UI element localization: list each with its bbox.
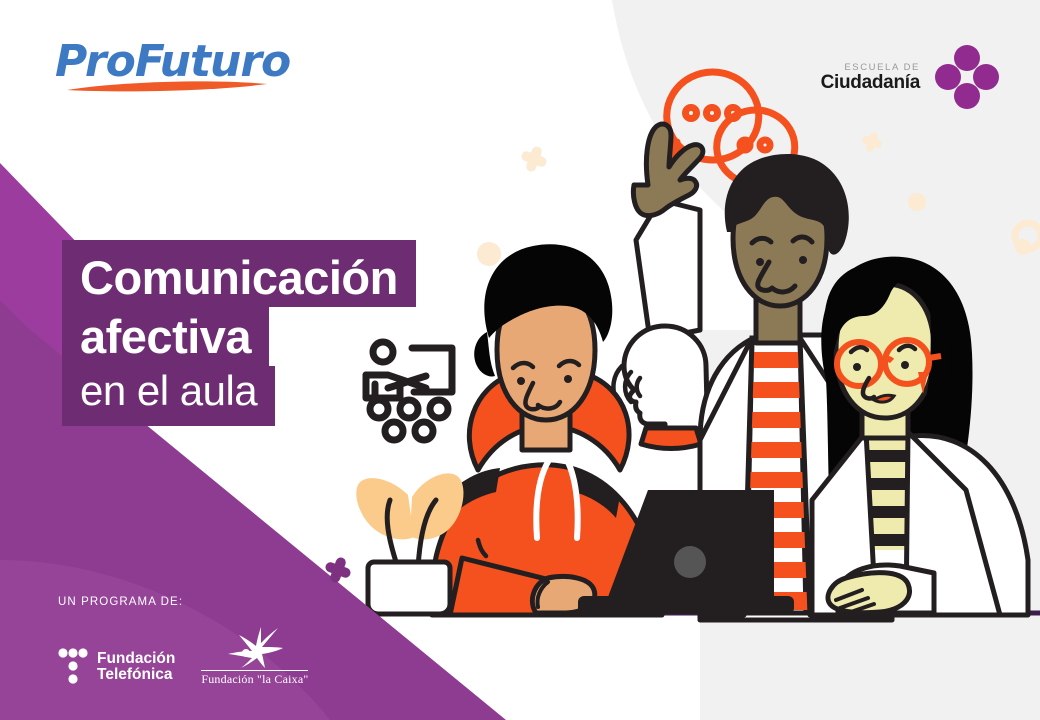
profuturo-wordmark: ProFuturo: [55, 36, 290, 87]
escuela-name: Ciudadanía: [821, 73, 920, 93]
dot-icon: [908, 193, 926, 211]
title-line-3: en el aula: [62, 366, 275, 426]
escuela-text: ESCUELA DE Ciudadanía: [821, 62, 920, 93]
laptop-trackpad: [674, 546, 706, 578]
title-line-2: afectiva: [62, 307, 269, 366]
course-cover-slide: ProFuturo ESCUELA DE Ciudadanía Comunica…: [0, 0, 1040, 720]
telefonica-line-1: Fundación: [97, 651, 175, 667]
profuturo-logo[interactable]: ProFuturo: [55, 36, 290, 95]
escuela-eyebrow: ESCUELA DE: [821, 62, 920, 73]
ciudadania-flower-icon: [934, 44, 1000, 110]
telefonica-text: Fundación Telefónica: [97, 651, 175, 684]
dot-icon: [477, 242, 501, 266]
telefonica-line-2: Telefónica: [97, 667, 175, 683]
telefonica-dots-icon: [58, 647, 88, 687]
page-title: Comunicación afectiva en el aula: [62, 240, 416, 426]
footer-sponsors: UN PROGRAMA DE: Fundación Telefónica: [58, 596, 308, 687]
programa-label: UN PROGRAMA DE:: [58, 596, 308, 608]
lacaixa-caption: Fundación "la Caixa": [201, 670, 308, 687]
title-line-1: Comunicación: [62, 240, 416, 307]
sponsor-logos: Fundación Telefónica Fundación "la Caixa…: [58, 626, 308, 687]
escuela-ciudadania-logo[interactable]: ESCUELA DE Ciudadanía: [821, 44, 1000, 110]
fundacion-telefonica-logo[interactable]: Fundación Telefónica: [58, 647, 175, 687]
lacaixa-star-icon: [225, 626, 285, 668]
fundacion-lacaixa-logo[interactable]: Fundación "la Caixa": [201, 626, 308, 687]
